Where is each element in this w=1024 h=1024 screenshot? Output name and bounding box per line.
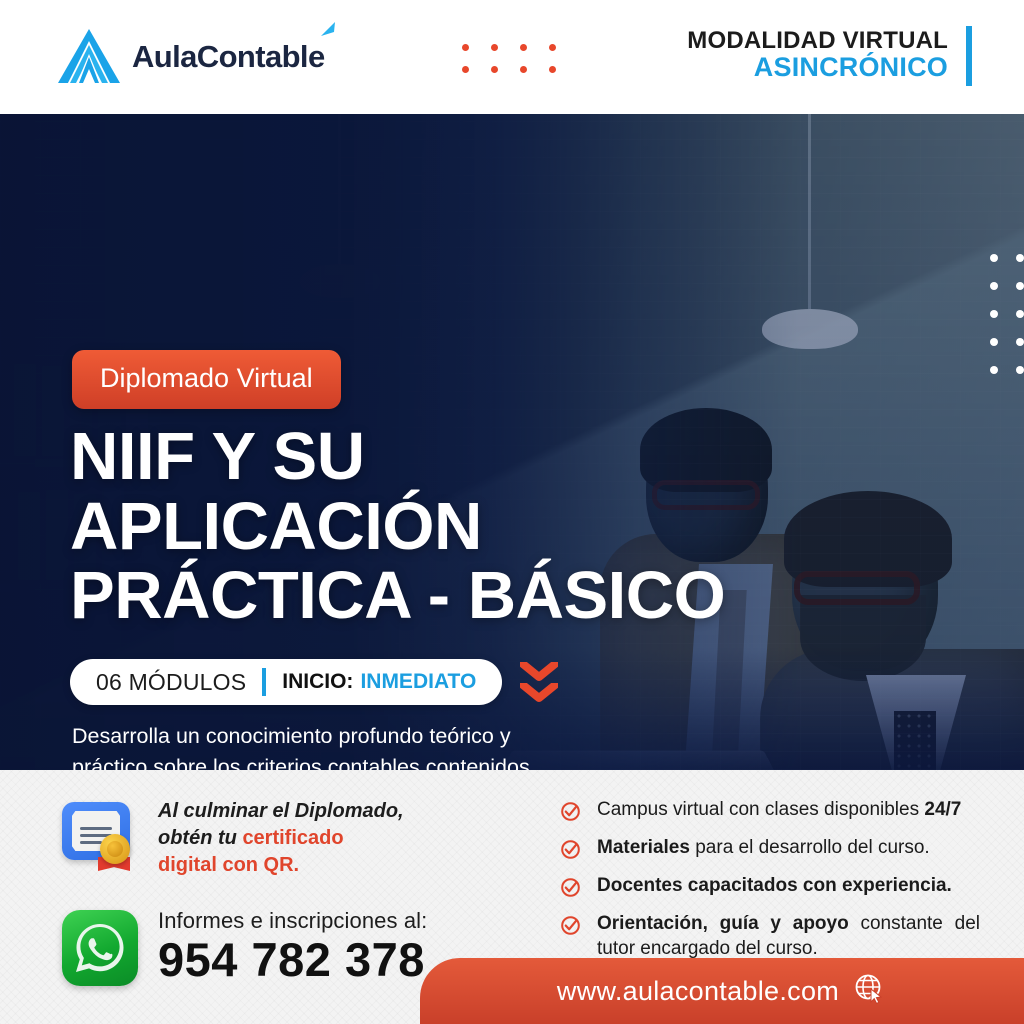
benefit-text: Campus virtual con clases disponibles 24… — [597, 798, 961, 823]
whatsapp-block[interactable]: Informes e inscripciones al: 954 782 378 — [62, 908, 427, 987]
course-type-badge: Diplomado Virtual — [72, 350, 341, 409]
list-item: Campus virtual con clases disponibles 24… — [560, 798, 980, 827]
modality-block: MODALIDAD VIRTUAL ASINCRÓNICO — [687, 28, 948, 82]
logo-swoosh-icon — [320, 22, 336, 37]
start-value: INMEDIATO — [360, 670, 476, 694]
benefit-text: Materiales para el desarrollo del curso. — [597, 836, 930, 861]
whatsapp-phone[interactable]: 954 782 378 — [158, 934, 427, 987]
check-circle-icon — [560, 801, 581, 827]
whatsapp-text: Informes e inscripciones al: 954 782 378 — [158, 908, 427, 987]
list-item: Docentes capacitados con experiencia. — [560, 874, 980, 903]
certificate-line-2-highlight: certificado — [242, 827, 343, 849]
desc-line-1: Desarrolla un conocimiento profundo teór… — [72, 721, 602, 752]
benefit-bold: Docentes capacitados con experiencia. — [597, 875, 952, 896]
certificate-block: Al culminar el Diplomado, obtén tu certi… — [62, 798, 404, 878]
benefit-pre: Campus virtual con clases disponibles — [597, 799, 924, 820]
certificate-line-1: Al culminar el Diplomado, — [158, 798, 404, 825]
modules-count: 06 MÓDULOS — [96, 669, 246, 696]
desc-line-2: práctico sobre los criterios contables c… — [72, 752, 602, 770]
modality-line2: ASINCRÓNICO — [687, 53, 948, 82]
pill-divider — [262, 668, 266, 696]
benefit-text: Docentes capacitados con experiencia. — [597, 874, 952, 899]
globe-cursor-icon — [853, 972, 887, 1011]
page-title: NIIF Y SU APLICACIÓN PRÁCTICA - BÁSICO — [70, 422, 770, 631]
course-description: Desarrolla un conocimiento profundo teór… — [72, 721, 602, 770]
certificate-line-2: obtén tu certificado — [158, 825, 404, 852]
certificate-line-2-plain: obtén tu — [158, 827, 242, 849]
check-circle-icon — [560, 839, 581, 865]
title-line-3: PRÁCTICA - BÁSICO — [70, 561, 770, 631]
certificate-badge-icon — [62, 802, 136, 870]
check-circle-icon — [560, 915, 581, 941]
benefit-post: para el desarrollo del curso. — [690, 837, 930, 858]
website-url-bar[interactable]: www.aulacontable.com — [420, 958, 1024, 1024]
certificate-text: Al culminar el Diplomado, obtén tu certi… — [158, 798, 404, 878]
start-label: INICIO: — [282, 670, 353, 694]
benefits-list: Campus virtual con clases disponibles 24… — [560, 798, 980, 970]
page-header: AulaContable MODALIDAD VIRTUAL ASINCRÓNI… — [0, 0, 1024, 114]
benefit-text: Orientación, guía y apoyo constante del … — [597, 912, 980, 961]
whatsapp-label: Informes e inscripciones al: — [158, 908, 427, 934]
course-info-row: 06 MÓDULOS INICIO: INMEDIATO — [70, 659, 558, 705]
check-circle-icon — [560, 877, 581, 903]
benefit-bold: Materiales — [597, 837, 690, 858]
modality-line1: MODALIDAD VIRTUAL — [687, 28, 948, 53]
benefit-bold: 24/7 — [924, 799, 961, 820]
certificate-line-3: digital con QR. — [158, 852, 404, 879]
aulacontable-a-logo-icon — [56, 27, 122, 85]
title-line-1: NIIF Y SU — [70, 422, 770, 492]
double-chevron-down-icon — [520, 662, 558, 702]
title-line-2: APLICACIÓN — [70, 492, 770, 562]
course-info-pill: 06 MÓDULOS INICIO: INMEDIATO — [70, 659, 502, 705]
website-url[interactable]: www.aulacontable.com — [557, 976, 839, 1007]
list-item: Materiales para el desarrollo del curso. — [560, 836, 980, 865]
logo-wordmark: AulaContable — [132, 41, 325, 72]
hero-banner: Diplomado Virtual NIIF Y SU APLICACIÓN P… — [0, 114, 1024, 770]
whatsapp-icon[interactable] — [62, 910, 138, 986]
modality-divider-bar — [966, 26, 972, 86]
list-item: Orientación, guía y apoyo constante del … — [560, 912, 980, 961]
benefit-bold: Orientación, guía y apoyo — [597, 913, 849, 934]
brand-logo[interactable]: AulaContable — [56, 27, 325, 85]
